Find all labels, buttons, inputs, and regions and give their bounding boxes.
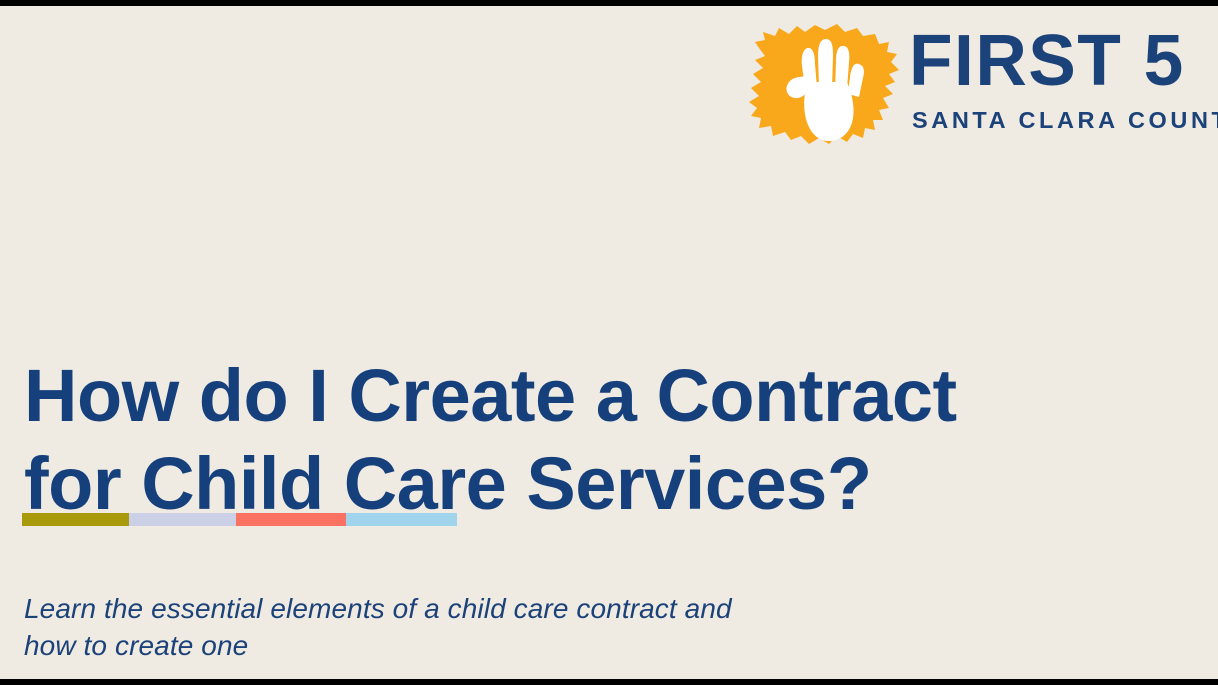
logo-wordmark: FIRST 5 SANTA CLARA COUNTY [909, 22, 1203, 146]
letterbox-bar-bottom [0, 679, 1218, 685]
page-title-line-1: How do I Create a Contract [24, 352, 1144, 440]
divider-segment-coral [236, 513, 346, 526]
logo-region-name: SANTA CLARA COUNTY [912, 107, 1218, 133]
divider-segment-olive [22, 513, 129, 526]
hand-paint-splash-icon [745, 20, 905, 148]
color-divider [22, 513, 457, 526]
first5-logo: FIRST 5 SANTA CLARA COUNTY [745, 20, 1203, 148]
logo-brand-name: FIRST 5 [909, 22, 1185, 100]
page-subtitle-line-1: Learn the essential elements of a child … [24, 590, 984, 627]
title-slide: FIRST 5 SANTA CLARA COUNTY How do I Crea… [0, 0, 1218, 685]
slide-canvas: FIRST 5 SANTA CLARA COUNTY How do I Crea… [0, 6, 1218, 679]
page-subtitle: Learn the essential elements of a child … [24, 590, 984, 664]
divider-segment-lavender [129, 513, 236, 526]
page-title: How do I Create a Contract for Child Car… [24, 352, 1144, 528]
page-subtitle-line-2: how to create one [24, 627, 984, 664]
letterbox-bar-top [0, 0, 1218, 6]
divider-segment-sky-blue [346, 513, 457, 526]
